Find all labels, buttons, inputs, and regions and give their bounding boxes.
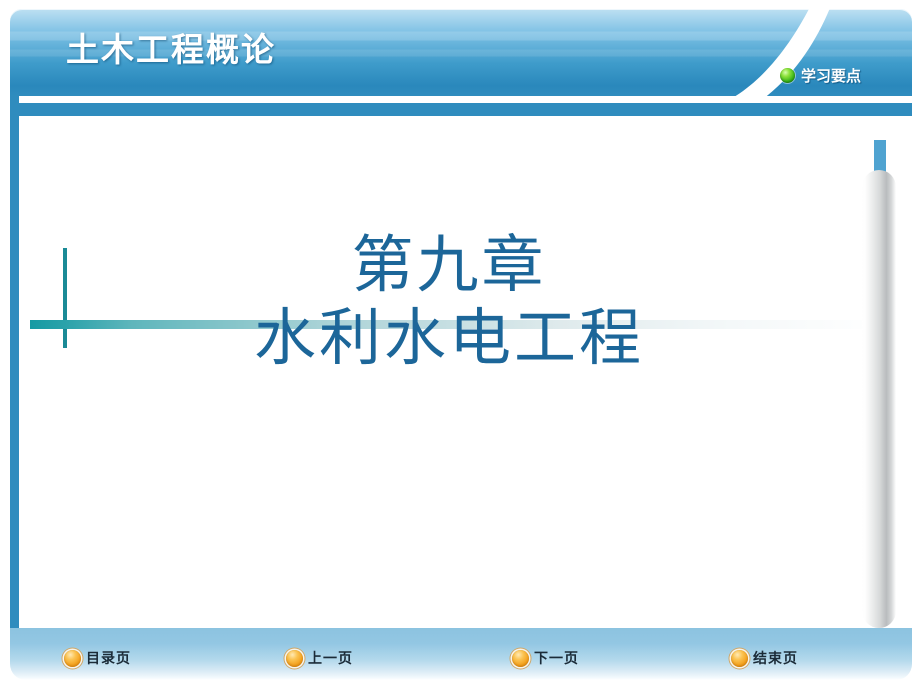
nav-item-label: 结束页: [753, 648, 798, 668]
slide-main-title: 第九章 水利水电工程: [19, 232, 879, 370]
orange-dot-icon: [286, 650, 303, 667]
orange-dot-icon: [512, 650, 529, 667]
header-white-gap: [19, 96, 912, 103]
header-left-rail: [10, 96, 19, 103]
study-points-link[interactable]: 学习要点: [780, 65, 861, 86]
nav-item-label: 目录页: [86, 648, 131, 668]
orange-dot-icon: [731, 650, 748, 667]
nav-item-label: 下一页: [534, 648, 579, 668]
header-underline-bar: [10, 103, 912, 116]
vertical-cylinder-bar-icon: [862, 170, 896, 628]
slide-header-title: 土木工程概论: [66, 23, 276, 71]
nav-item-next-page[interactable]: 下一页: [512, 648, 579, 668]
slide-title-line-2: 水利水电工程: [19, 305, 879, 370]
nav-item-label: 上一页: [308, 648, 353, 668]
cylinder-top-tip: [874, 140, 886, 174]
nav-item-end-page[interactable]: 结束页: [731, 648, 798, 668]
content-left-border: [10, 116, 19, 628]
study-points-label: 学习要点: [801, 65, 861, 86]
slide-title-line-1: 第九章: [19, 232, 879, 297]
nav-item-previous-page[interactable]: 上一页: [286, 648, 353, 668]
nav-item-contents[interactable]: 目录页: [64, 648, 131, 668]
slide-header: 土木工程概论 学习要点: [10, 9, 912, 96]
green-dot-icon: [780, 68, 795, 83]
orange-dot-icon: [64, 650, 81, 667]
presentation-slide: 土木工程概论 学习要点 第九章 水利水电工程 目录页 上一页: [0, 0, 920, 690]
